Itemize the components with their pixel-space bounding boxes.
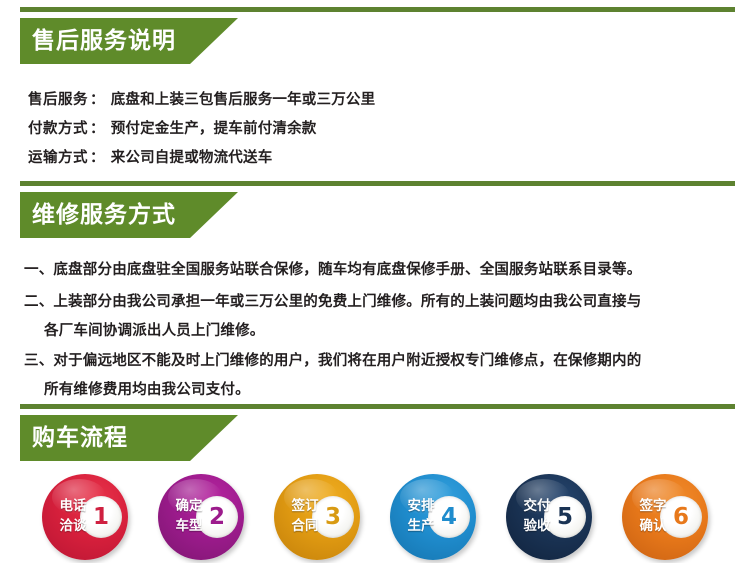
flow-step-3[interactable]: 签订 合同 3 bbox=[274, 474, 360, 560]
after-sales-line-2-label: 付款方式 bbox=[28, 121, 88, 137]
flow-step-5-label-line1: 交付 bbox=[515, 496, 559, 516]
flow-step-5-label: 交付 验收 bbox=[515, 496, 559, 536]
flow-step-6-label: 签字 确认 bbox=[631, 496, 675, 536]
section-rule-purchase-flow bbox=[20, 404, 735, 409]
repair-paragraph-4: 三、对于偏远地区不能及时上门维修的用户，我们将在用户附近授权专门维修点，在保修期… bbox=[24, 349, 641, 370]
after-sales-line-3-sep: ： bbox=[88, 150, 111, 166]
after-sales-line-3-value: 来公司自提或物流代送车 bbox=[111, 150, 273, 166]
after-sales-line-1: 售后服务：底盘和上装三包售后服务一年或三万公里 bbox=[28, 88, 375, 109]
flow-step-4[interactable]: 安排 生产 4 bbox=[390, 474, 476, 560]
after-sales-line-3: 运输方式：来公司自提或物流代送车 bbox=[28, 146, 272, 167]
repair-paragraph-2: 二、上装部分由我公司承担一年或三万公里的免费上门维修。所有的上装问题均由我公司直… bbox=[24, 290, 641, 311]
after-sales-line-1-label: 售后服务 bbox=[28, 92, 88, 108]
section-rule-after-sales bbox=[20, 7, 735, 12]
promo-page: 售后服务说明 售后服务：底盘和上装三包售后服务一年或三万公里 付款方式：预付定金… bbox=[0, 0, 750, 563]
purchase-flow-steps: 电话 洽谈 1 确定 车型 2 签订 合同 3 安排 生产 bbox=[0, 474, 750, 563]
after-sales-line-2: 付款方式：预付定金生产，提车前付清余款 bbox=[28, 117, 317, 138]
flow-step-2[interactable]: 确定 车型 2 bbox=[158, 474, 244, 560]
flow-step-3-label-line2: 合同 bbox=[283, 516, 327, 536]
after-sales-line-1-value: 底盘和上装三包售后服务一年或三万公里 bbox=[111, 92, 376, 108]
flow-step-2-label-line2: 车型 bbox=[167, 516, 211, 536]
flow-step-6[interactable]: 签字 确认 6 bbox=[622, 474, 708, 560]
flow-step-2-label-line1: 确定 bbox=[167, 496, 211, 516]
after-sales-line-2-value: 预付定金生产，提车前付清余款 bbox=[111, 121, 317, 137]
section-title-after-sales: 售后服务说明 bbox=[20, 18, 176, 64]
repair-paragraph-3: 各厂车间协调派出人员上门维修。 bbox=[44, 319, 265, 340]
flow-step-5-label-line2: 验收 bbox=[515, 516, 559, 536]
flow-step-6-label-line2: 确认 bbox=[631, 516, 675, 536]
section-rule-repair-service bbox=[20, 181, 735, 186]
flow-step-1-label: 电话 洽谈 bbox=[51, 496, 95, 536]
flow-step-4-label-line2: 生产 bbox=[399, 516, 443, 536]
after-sales-line-3-label: 运输方式 bbox=[28, 150, 88, 166]
flow-step-4-label-line1: 安排 bbox=[399, 496, 443, 516]
repair-paragraph-5: 所有维修费用均由我公司支付。 bbox=[44, 378, 250, 399]
repair-paragraph-1: 一、底盘部分由底盘驻全国服务站联合保修，随车均有底盘保修手册、全国服务站联系目录… bbox=[24, 258, 641, 279]
after-sales-line-2-sep: ： bbox=[88, 121, 111, 137]
section-title-purchase-flow: 购车流程 bbox=[20, 415, 128, 461]
flow-step-2-label: 确定 车型 bbox=[167, 496, 211, 536]
flow-step-6-label-line1: 签字 bbox=[631, 496, 675, 516]
flow-step-5[interactable]: 交付 验收 5 bbox=[506, 474, 592, 560]
flow-step-4-label: 安排 生产 bbox=[399, 496, 443, 536]
flow-step-1[interactable]: 电话 洽谈 1 bbox=[42, 474, 128, 560]
section-title-repair-service: 维修服务方式 bbox=[20, 192, 176, 238]
flow-step-1-label-line2: 洽谈 bbox=[51, 516, 95, 536]
flow-step-3-label: 签订 合同 bbox=[283, 496, 327, 536]
after-sales-line-1-sep: ： bbox=[88, 92, 111, 108]
flow-step-1-label-line1: 电话 bbox=[51, 496, 95, 516]
flow-step-3-label-line1: 签订 bbox=[283, 496, 327, 516]
